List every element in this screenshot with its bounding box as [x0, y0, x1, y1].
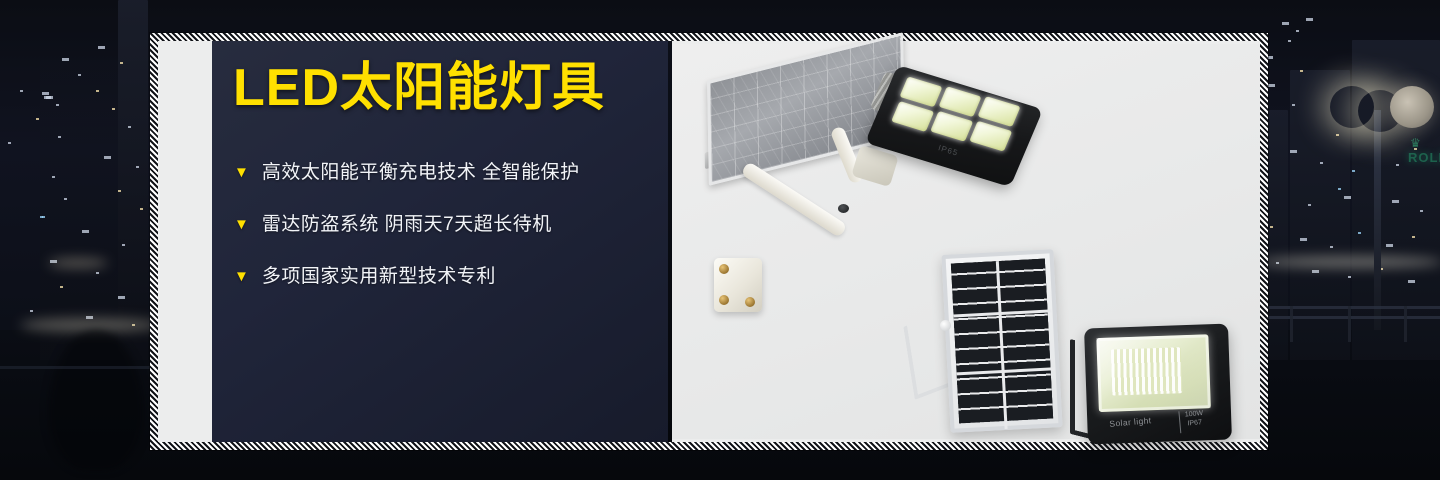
window-light — [1300, 70, 1303, 72]
window-light — [120, 62, 123, 64]
window-light — [78, 74, 81, 76]
window-light — [62, 58, 69, 61]
railing-post — [1290, 306, 1293, 342]
window-light — [96, 90, 99, 92]
window-light — [1420, 210, 1423, 212]
window-light — [1268, 84, 1275, 87]
flood-light-lens — [1096, 334, 1211, 412]
window-light — [1308, 204, 1311, 206]
window-light — [98, 46, 105, 49]
solar-panel-body — [941, 249, 1062, 433]
window-light — [1320, 162, 1323, 164]
window-light — [1290, 150, 1297, 153]
feature-text: 高效太阳能平衡充电技术 全智能保护 — [262, 162, 580, 184]
mounting-bolt — [719, 295, 729, 305]
feature-list: ▼ 高效太阳能平衡充电技术 全智能保护 ▼ 雷达防盗系统 阴雨天7天超长待机 ▼… — [234, 162, 664, 318]
window-light — [82, 230, 89, 233]
banner: ♛ ROLEX LED太阳能灯具 ▼ 高效太阳能平衡充电技术 全智能保护 ▼ 雷… — [0, 0, 1440, 480]
window-light — [104, 156, 111, 159]
waterfront-glow — [1258, 256, 1440, 268]
window-light — [118, 190, 121, 192]
window-light — [64, 198, 67, 200]
list-item: ▼ 雷达防盗系统 阴雨天7天超长待机 — [234, 214, 664, 236]
window-light — [1338, 188, 1341, 190]
flood-light-brand-label: Solar light — [1109, 415, 1152, 429]
window-light — [1270, 226, 1273, 228]
window-light — [140, 208, 143, 210]
window-light — [36, 118, 39, 120]
window-light — [58, 136, 61, 138]
window-light — [1392, 200, 1399, 203]
feature-text: 雷达防盗系统 阴雨天7天超长待机 — [262, 214, 552, 236]
window-light — [1344, 196, 1351, 199]
window-light — [60, 286, 63, 288]
building — [40, 60, 118, 360]
list-item: ▼ 多项国家实用新型技术专利 — [234, 266, 664, 288]
window-light — [1386, 244, 1393, 247]
window-light — [1412, 236, 1415, 238]
building — [118, 0, 148, 360]
window-light — [1288, 40, 1291, 42]
window-light — [42, 92, 49, 95]
window-light — [1292, 104, 1295, 106]
lens-bevel — [1096, 334, 1211, 412]
radar-sensor-icon — [838, 204, 849, 213]
mounting-bolt — [719, 264, 729, 274]
window-light — [118, 296, 125, 299]
window-light — [1306, 18, 1313, 21]
flood-light-body: Solar light 100W IP67 — [1084, 324, 1232, 445]
window-light — [1348, 276, 1351, 278]
window-light — [8, 142, 11, 144]
window-light — [1282, 22, 1289, 25]
wall-mount-bracket — [714, 258, 762, 312]
window-light — [1396, 164, 1399, 166]
window-light — [136, 166, 139, 168]
triangle-bullet-icon: ▼ — [234, 266, 249, 288]
mounting-bolt — [745, 297, 755, 307]
window-light — [20, 90, 23, 92]
label-divider — [1178, 411, 1181, 433]
window-light — [1312, 270, 1319, 273]
window-light — [128, 126, 131, 128]
window-light — [56, 104, 59, 106]
crown-icon: ♛ — [1410, 136, 1421, 150]
flood-light-spec: 100W IP67 — [1184, 409, 1204, 429]
triangle-bullet-icon: ▼ — [234, 214, 249, 236]
window-light — [1352, 170, 1355, 172]
window-light — [112, 108, 115, 110]
window-light — [30, 310, 33, 312]
window-light — [52, 176, 55, 178]
window-light — [46, 96, 53, 99]
lamp-post — [1374, 110, 1381, 330]
triangle-bullet-icon: ▼ — [234, 162, 249, 184]
panel-stand-hinge — [940, 320, 951, 331]
page-title: LED太阳能灯具 — [233, 60, 653, 116]
railing-post — [1404, 306, 1407, 342]
lamp-globe — [1390, 86, 1434, 128]
window-light — [1408, 280, 1415, 283]
shore-glow — [48, 258, 108, 268]
flood-light-ip-rating: IP67 — [1185, 418, 1204, 429]
list-item: ▼ 高效太阳能平衡充电技术 全智能保护 — [234, 162, 664, 184]
window-light — [1358, 232, 1361, 234]
railing-post — [1348, 306, 1351, 342]
feature-text: 多项国家实用新型技术专利 — [262, 266, 496, 288]
window-light — [96, 272, 99, 274]
window-light — [1300, 238, 1307, 241]
railing — [0, 366, 150, 369]
window-light — [1336, 134, 1339, 136]
window-light — [40, 216, 43, 218]
rolex-sign: ROLEX — [1408, 150, 1440, 165]
window-light — [1330, 246, 1333, 248]
window-light — [122, 244, 125, 246]
window-light — [1296, 30, 1299, 32]
